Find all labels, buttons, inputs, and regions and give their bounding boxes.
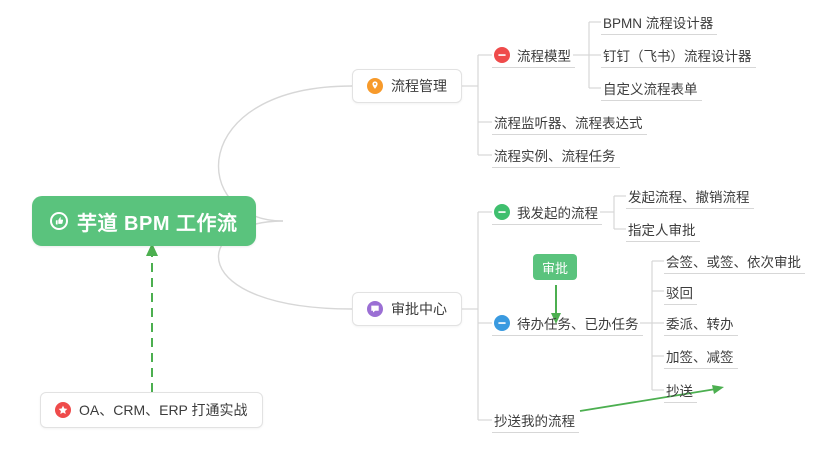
minus-circle-green-icon bbox=[494, 204, 510, 220]
minus-circle-blue-icon bbox=[494, 315, 510, 331]
node-process-model[interactable]: 流程模型 bbox=[492, 42, 575, 68]
node-label-instance-task: 流程实例、流程任务 bbox=[494, 145, 616, 165]
node-label-reject: 驳回 bbox=[666, 282, 693, 302]
node-label-process-model: 流程模型 bbox=[517, 45, 571, 65]
branch-node-process-management[interactable]: 流程管理 bbox=[352, 69, 462, 103]
node-reject[interactable]: 驳回 bbox=[664, 279, 697, 305]
node-countersign[interactable]: 会签、或签、依次审批 bbox=[664, 248, 805, 274]
node-label-my-initiated-process: 我发起的流程 bbox=[517, 202, 598, 222]
branch-label-approval-center: 审批中心 bbox=[391, 299, 447, 319]
node-start-cancel-process[interactable]: 发起流程、撤销流程 bbox=[626, 183, 754, 209]
root-node-label: 芋道 BPM 工作流 bbox=[77, 207, 238, 236]
branch-node-approval-center[interactable]: 审批中心 bbox=[352, 292, 462, 326]
node-label-start-cancel-process: 发起流程、撤销流程 bbox=[628, 186, 750, 206]
node-bpmn-designer[interactable]: BPMN 流程设计器 bbox=[601, 9, 717, 35]
chat-bubble-icon bbox=[367, 301, 383, 317]
node-cc-to-me[interactable]: 抄送我的流程 bbox=[492, 407, 579, 433]
mindmap-canvas: 芋道 BPM 工作流 流程管理 流程模型 BPMN 流程设计器 钉钉（飞书）流程… bbox=[0, 0, 814, 453]
node-label-listener-expression: 流程监听器、流程表达式 bbox=[494, 112, 643, 132]
node-label-countersign: 会签、或签、依次审批 bbox=[666, 251, 801, 271]
node-label-todo-done-tasks: 待办任务、已办任务 bbox=[517, 313, 639, 333]
star-circle-icon bbox=[55, 402, 71, 418]
node-assign-approver[interactable]: 指定人审批 bbox=[626, 216, 700, 242]
node-label-delegate-transfer: 委派、转办 bbox=[666, 313, 734, 333]
node-label-dingtalk-designer: 钉钉（飞书）流程设计器 bbox=[603, 45, 752, 65]
location-pin-icon bbox=[367, 78, 383, 94]
branch-label-process-management: 流程管理 bbox=[391, 76, 447, 96]
node-custom-form[interactable]: 自定义流程表单 bbox=[601, 75, 702, 101]
node-instance-task[interactable]: 流程实例、流程任务 bbox=[492, 142, 620, 168]
node-my-initiated-process[interactable]: 我发起的流程 bbox=[492, 199, 602, 225]
highlight-pill-approval[interactable]: 审批 bbox=[533, 254, 577, 280]
node-delegate-transfer[interactable]: 委派、转办 bbox=[664, 310, 738, 336]
node-label-bpmn-designer: BPMN 流程设计器 bbox=[603, 12, 713, 32]
node-label-cc-to-me: 抄送我的流程 bbox=[494, 410, 575, 430]
node-label-custom-form: 自定义流程表单 bbox=[603, 78, 698, 98]
highlight-pill-label: 审批 bbox=[542, 258, 568, 277]
node-todo-done-tasks[interactable]: 待办任务、已办任务 bbox=[492, 310, 643, 336]
node-listener-expression[interactable]: 流程监听器、流程表达式 bbox=[492, 109, 647, 135]
thumbs-up-icon bbox=[50, 212, 68, 230]
node-label-cc: 抄送 bbox=[666, 380, 693, 400]
node-cc[interactable]: 抄送 bbox=[664, 377, 697, 403]
root-node[interactable]: 芋道 BPM 工作流 bbox=[32, 196, 256, 246]
footnote-label: OA、CRM、ERP 打通实战 bbox=[79, 400, 248, 420]
node-label-assign-approver: 指定人审批 bbox=[628, 219, 696, 239]
minus-circle-icon bbox=[494, 47, 510, 63]
node-add-remove-sign[interactable]: 加签、减签 bbox=[664, 343, 738, 369]
node-dingtalk-designer[interactable]: 钉钉（飞书）流程设计器 bbox=[601, 42, 756, 68]
node-label-add-remove-sign: 加签、减签 bbox=[666, 346, 734, 366]
footnote-node[interactable]: OA、CRM、ERP 打通实战 bbox=[40, 392, 263, 428]
